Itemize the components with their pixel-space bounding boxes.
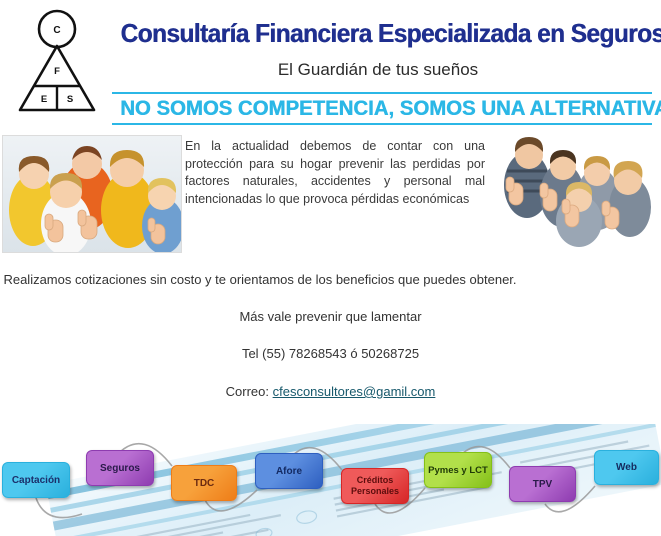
contact-section: Realizamos cotizaciones sin costo y te o… <box>0 258 661 401</box>
company-title: Consultaría Financiera Especializada en … <box>120 18 635 49</box>
header: C F E S Consultaría Financiera Especiali… <box>0 0 661 133</box>
proverb-text: Más vale prevenir que lamentar <box>0 289 661 326</box>
node-seguros[interactable]: Seguros <box>86 450 154 486</box>
node-label: Créditos Personales <box>342 475 408 497</box>
svg-text:E: E <box>41 94 47 105</box>
quote-offer-text: Realizamos cotizaciones sin costo y te o… <box>0 264 520 289</box>
tagline: El Guardián de tus sueños <box>104 60 652 80</box>
node-web[interactable]: Web <box>594 450 659 485</box>
node-tpv[interactable]: TPV <box>509 466 576 502</box>
email-label: Correo: <box>226 384 269 399</box>
node-label: Web <box>613 462 640 473</box>
flyer-page: C F E S Consultaría Financiera Especiali… <box>0 0 661 536</box>
svg-text:S: S <box>67 94 73 105</box>
cfes-pyramid-logo: C F E S <box>16 6 98 118</box>
products-diagram: Captación Seguros TDC Afore Créditos Per… <box>0 424 661 536</box>
node-label: TPV <box>530 479 555 490</box>
intro-section: En la actualidad debemos de contar con u… <box>0 133 661 258</box>
node-creditos-personales[interactable]: Créditos Personales <box>341 468 409 504</box>
node-label: TDC <box>191 478 218 489</box>
banner-rule-top <box>112 92 652 94</box>
svg-text:F: F <box>54 66 60 77</box>
node-label: Afore <box>273 466 305 477</box>
node-pymes-y-lct[interactable]: Pymes y LCT <box>424 452 492 488</box>
node-afore[interactable]: Afore <box>255 453 323 489</box>
node-label: Seguros <box>97 463 143 474</box>
intro-paragraph: En la actualidad debemos de contar con u… <box>185 138 485 208</box>
svg-text:C: C <box>53 25 60 36</box>
slogan-banner: NO SOMOS COMPETENCIA, SOMOS UNA ALTERNAT… <box>112 92 652 125</box>
family-photo <box>2 135 182 253</box>
node-label: Pymes y LCT <box>425 465 491 476</box>
email-row: Correo: cfesconsultores@gamil.com <box>0 363 661 401</box>
slogan-text: NO SOMOS COMPETENCIA, SOMOS UNA ALTERNAT… <box>120 96 644 122</box>
node-label: Captación <box>9 475 63 486</box>
node-tdc[interactable]: TDC <box>171 465 237 501</box>
email-link[interactable]: cfesconsultores@gamil.com <box>273 384 436 399</box>
group-photo <box>487 133 661 251</box>
banner-rule-bottom <box>112 123 652 125</box>
node-captacion[interactable]: Captación <box>2 462 70 498</box>
phone-text: Tel (55) 78268543 ó 50268725 <box>0 326 661 363</box>
